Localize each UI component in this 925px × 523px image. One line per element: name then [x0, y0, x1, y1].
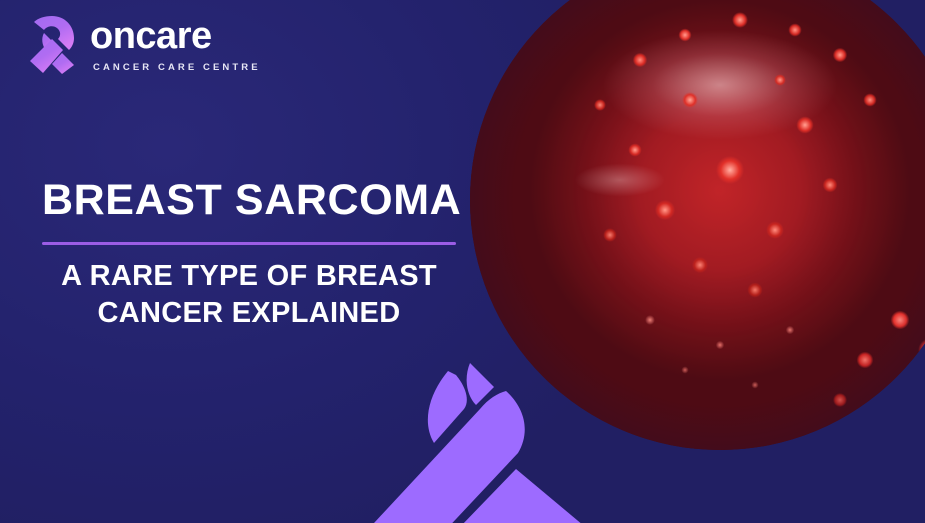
- headline-block: BREAST SARCOMA A RARE TYPE OF BREAST CAN…: [42, 178, 512, 332]
- cancer-cell-image: [470, 0, 925, 450]
- breast-sarcoma-banner: oncare CANCER CARE CENTRE BREAST SARCOMA…: [0, 0, 925, 523]
- oncare-logo[interactable]: oncare CANCER CARE CENTRE: [22, 14, 261, 76]
- logo-text-block: oncare CANCER CARE CENTRE: [90, 17, 261, 73]
- page-subtitle: A RARE TYPE OF BREAST CANCER EXPLAINED: [42, 258, 456, 332]
- title-divider: [42, 242, 456, 245]
- cancer-cell-photo: [470, 0, 925, 450]
- subtitle-line-1: A RARE TYPE OF BREAST: [61, 260, 437, 292]
- subtitle-line-2: CANCER EXPLAINED: [98, 297, 401, 329]
- page-title: BREAST SARCOMA: [42, 178, 512, 224]
- cancer-awareness-ribbon-icon: [22, 14, 78, 76]
- logo-tagline: CANCER CARE CENTRE: [90, 62, 261, 73]
- logo-wordmark: oncare: [90, 17, 261, 55]
